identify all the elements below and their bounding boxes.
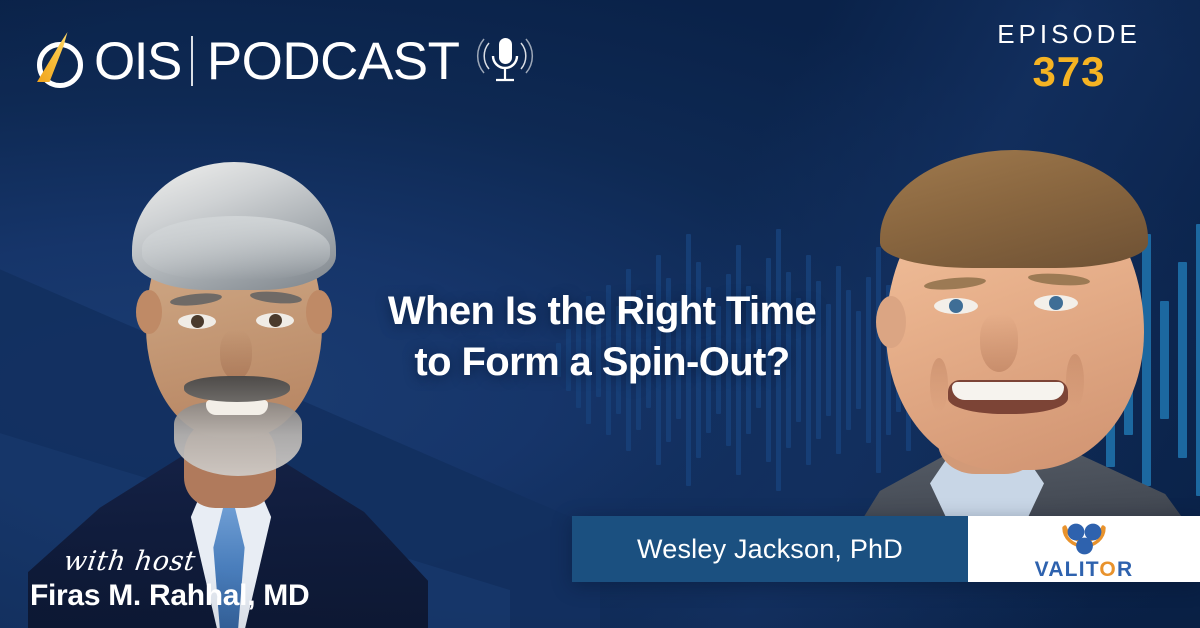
logo-divider (191, 36, 193, 86)
logo-text-podcast: PODCAST (207, 35, 460, 88)
episode-title-line-1: When Is the Right Time (352, 286, 852, 337)
episode-badge: EPISODE 373 (974, 20, 1164, 94)
sponsor-logo-panel[interactable]: VALITOR (968, 516, 1200, 582)
guest-name: Wesley Jackson, PhD (637, 534, 903, 565)
podcast-episode-card: OIS PODCAST EPISODE 373 When Is the Righ… (0, 0, 1200, 628)
sponsor-word-part1: VALIT (1035, 558, 1100, 581)
episode-title: When Is the Right Time to Form a Spin-Ou… (352, 286, 852, 388)
sponsor-word-accent: O (1099, 558, 1117, 581)
guest-name-container: Wesley Jackson, PhD (572, 516, 968, 582)
guest-name-bar: Wesley Jackson, PhD VALITOR (572, 516, 1200, 582)
microphone-icon (474, 32, 536, 90)
episode-title-line-2: to Form a Spin-Out? (352, 337, 852, 388)
with-host-label: with host (62, 548, 352, 575)
sponsor-word-part2: R (1117, 558, 1133, 581)
host-name: Firas M. Rahhal, MD (30, 579, 350, 612)
valitor-three-circles-icon (1056, 520, 1112, 558)
brand-logo[interactable]: OIS PODCAST (34, 22, 536, 100)
episode-label: EPISODE (974, 20, 1164, 49)
host-credit: with host Firas M. Rahhal, MD (30, 548, 350, 612)
sponsor-wordmark: VALITOR (1035, 559, 1134, 580)
logo-text-ois: OIS (94, 35, 181, 88)
episode-number: 373 (974, 49, 1164, 94)
ois-beam-ring-icon (34, 30, 92, 92)
